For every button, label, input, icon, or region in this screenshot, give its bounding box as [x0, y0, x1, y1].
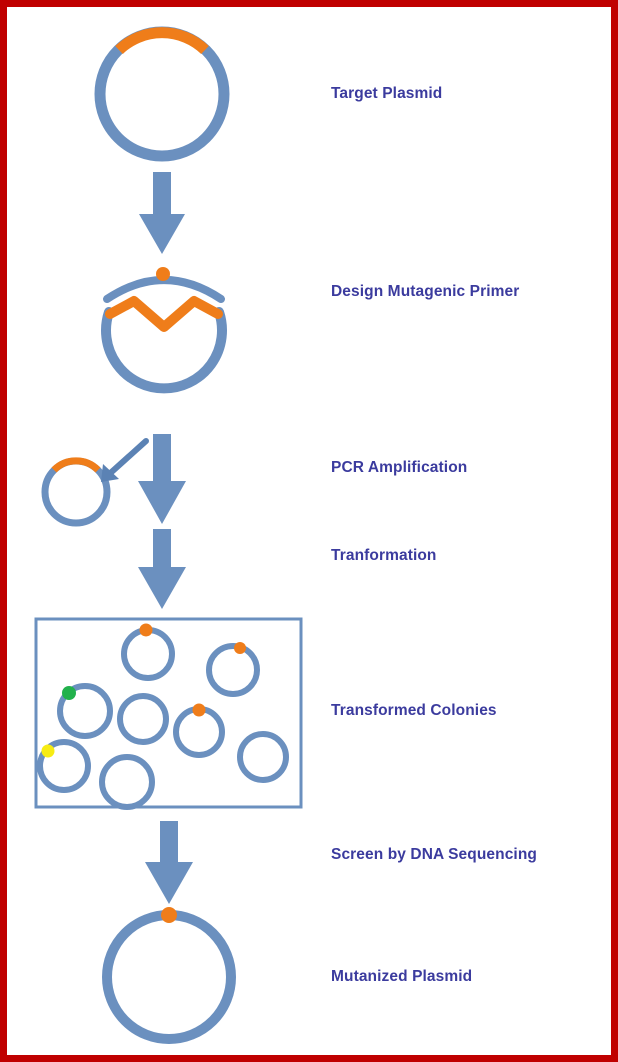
- transformed-colonies-graphic: [36, 619, 301, 807]
- mutanized-plasmid-graphic: [107, 907, 231, 1039]
- down-arrow-icon: [138, 529, 186, 609]
- figure-frame: Target Plasmid Design Mutagenic Primer P…: [0, 0, 618, 1062]
- annealed-primer-zigzag: [110, 301, 218, 327]
- colony-marker-dot-green: [62, 686, 76, 700]
- colony-item: [120, 696, 166, 742]
- down-arrow-icon: [138, 434, 186, 524]
- point-mutation-dot: [161, 907, 177, 923]
- diagram-canvas: Target Plasmid Design Mutagenic Primer P…: [9, 9, 611, 1055]
- amplified-mutation-arc: [54, 461, 98, 470]
- label-transformed-colonies: Transformed Colonies: [331, 703, 497, 719]
- arrow-colonies-to-final: [145, 821, 193, 904]
- label-design-mutagenic-primer: Design Mutagenic Primer: [331, 284, 519, 300]
- pcr-amplification-graphic: [45, 441, 146, 523]
- mutation-region-arc: [119, 33, 205, 50]
- label-mutanized-plasmid: Mutanized Plasmid: [331, 969, 472, 985]
- down-arrow-icon: [145, 821, 193, 904]
- colony-marker-dot-orange: [193, 704, 206, 717]
- down-arrow-icon: [139, 172, 185, 254]
- label-pcr-amplification: PCR Amplification: [331, 460, 467, 476]
- colony-item: [102, 757, 152, 807]
- colony-marker-dot-yellow: [42, 745, 55, 758]
- diagram-graphics: [9, 9, 611, 1055]
- primer-mismatch-dot: [156, 267, 170, 281]
- colony-marker-dot-orange: [140, 624, 153, 637]
- figure-inner: Target Plasmid Design Mutagenic Primer P…: [7, 7, 611, 1055]
- target-plasmid-graphic: [100, 32, 224, 156]
- plasmid-backbone-circle: [100, 32, 224, 156]
- arrow-pcr-to-colonies: [138, 529, 186, 609]
- mutagenic-primer-arc: [107, 280, 221, 299]
- colony-item: [60, 686, 110, 736]
- pcr-pointer-line: [106, 441, 146, 477]
- colony-item: [209, 642, 257, 694]
- final-plasmid-circle: [107, 915, 231, 1039]
- design-mutagenic-primer-graphic: [106, 267, 222, 388]
- colony-item: [240, 734, 286, 780]
- amplified-plasmid-circle: [45, 461, 107, 523]
- arrow-target-to-primer: [139, 172, 185, 254]
- colony-item: [176, 704, 222, 756]
- label-target-plasmid: Target Plasmid: [331, 86, 442, 102]
- colony-item: [124, 624, 172, 679]
- label-screen-by-dna-sequencing: Screen by DNA Sequencing: [331, 847, 537, 863]
- arrow-primer-to-pcr: [138, 434, 186, 524]
- colony-marker-dot-orange: [234, 642, 246, 654]
- colony-item: [40, 742, 88, 790]
- label-tranformation: Tranformation: [331, 548, 437, 564]
